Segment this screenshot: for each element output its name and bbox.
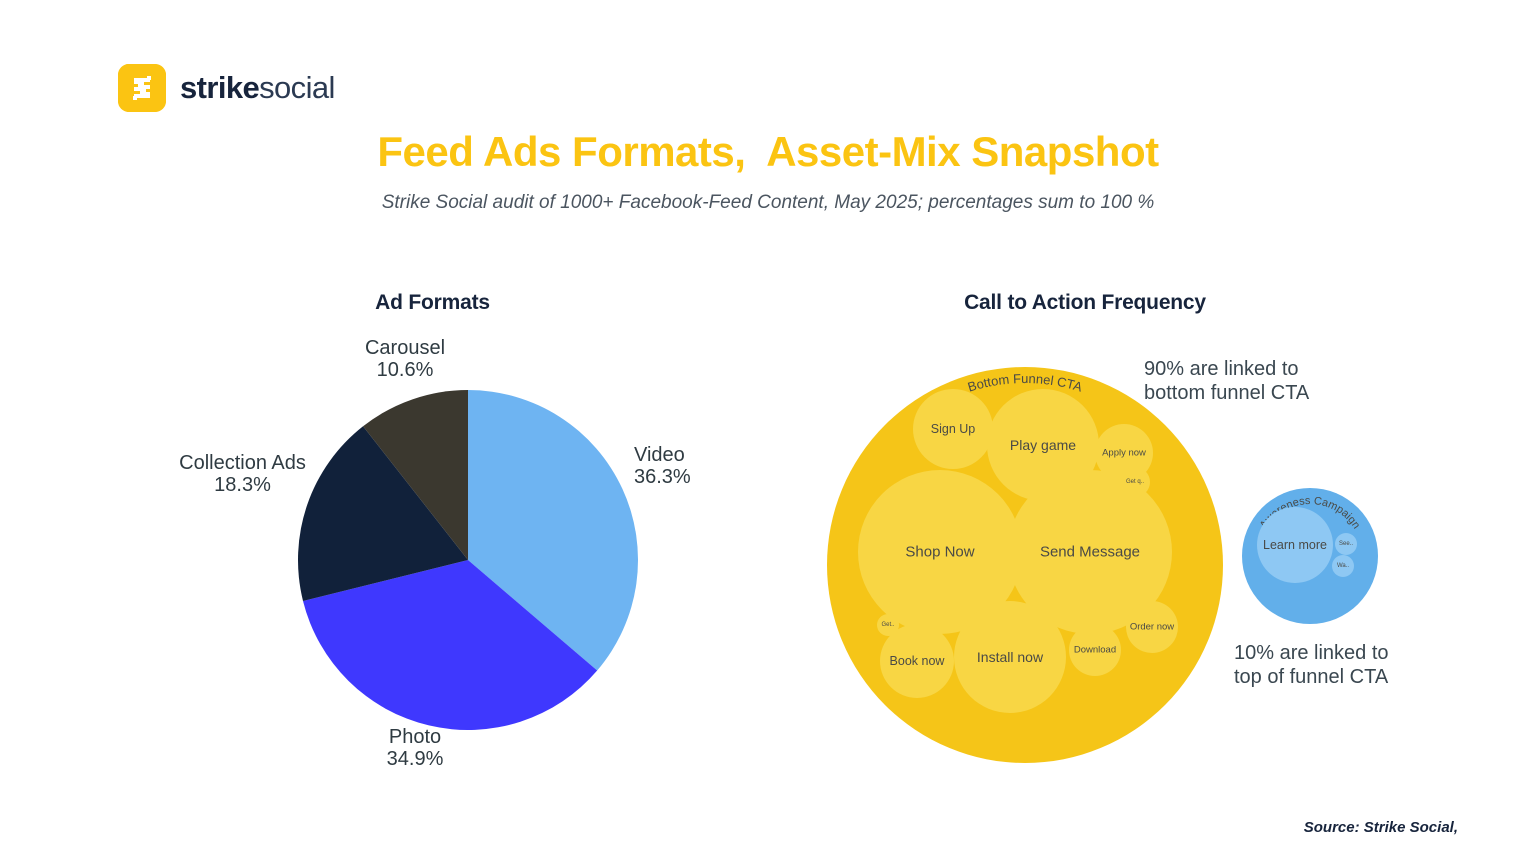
bubble-chart-title: Call to Action Frequency — [905, 291, 1265, 315]
bubble-label: Wa.. — [1337, 563, 1349, 569]
brand-wordmark-bold: strike — [180, 70, 259, 105]
bubble-label: See.. — [1339, 541, 1353, 547]
annotation-top-funnel: 10% are linked totop of funnel CTA — [1234, 641, 1494, 689]
ad-formats-pie-chart — [298, 390, 638, 730]
pie-label-photo: Photo34.9% — [340, 726, 490, 771]
source-note: Source: Strike Social, — [1304, 819, 1458, 836]
pie-label-carousel: Carousel10.6% — [330, 337, 480, 382]
bubble-label: Shop Now — [905, 544, 974, 561]
brand-wordmark: strikesocial — [180, 70, 335, 106]
page-title: Feed Ads Formats, Asset-Mix Snapshot — [0, 128, 1536, 176]
bubble-label: Get.. — [881, 622, 894, 628]
pie-label-video: Video36.3% — [634, 444, 784, 489]
bubble-label: Get q.. — [1126, 479, 1144, 485]
bubble-label: Learn more — [1263, 538, 1327, 552]
bubble-label: Download — [1074, 645, 1116, 656]
pie-chart-title: Ad Formats — [280, 291, 585, 315]
annotation-bottom-funnel: 90% are linked tobottom funnel CTA — [1144, 357, 1404, 405]
bubble-label: Order now — [1130, 622, 1174, 633]
brand-wordmark-light: social — [259, 70, 335, 105]
bubble-label: Send Message — [1040, 544, 1140, 561]
bubble-label: Sign Up — [931, 422, 976, 436]
bubble-group-awareness-campaign: Awareness CampaignLearn moreSee..Wa.. — [1242, 488, 1378, 624]
bubble-label: Install now — [977, 649, 1044, 665]
bubble-label: Book now — [890, 654, 946, 668]
page-subtitle: Strike Social audit of 1000+ Facebook-Fe… — [0, 192, 1536, 214]
bubble-label: Apply now — [1102, 448, 1146, 459]
bubble-label: Play game — [1010, 437, 1076, 453]
strike-social-s-mark-icon — [118, 64, 166, 112]
bubble-group-bottom-funnel-cta: Bottom Funnel CTAShop NowSend MessagePla… — [827, 367, 1223, 763]
pie-label-collection-ads: Collection Ads18.3% — [160, 452, 325, 497]
brand-logo: strikesocial — [118, 64, 335, 112]
